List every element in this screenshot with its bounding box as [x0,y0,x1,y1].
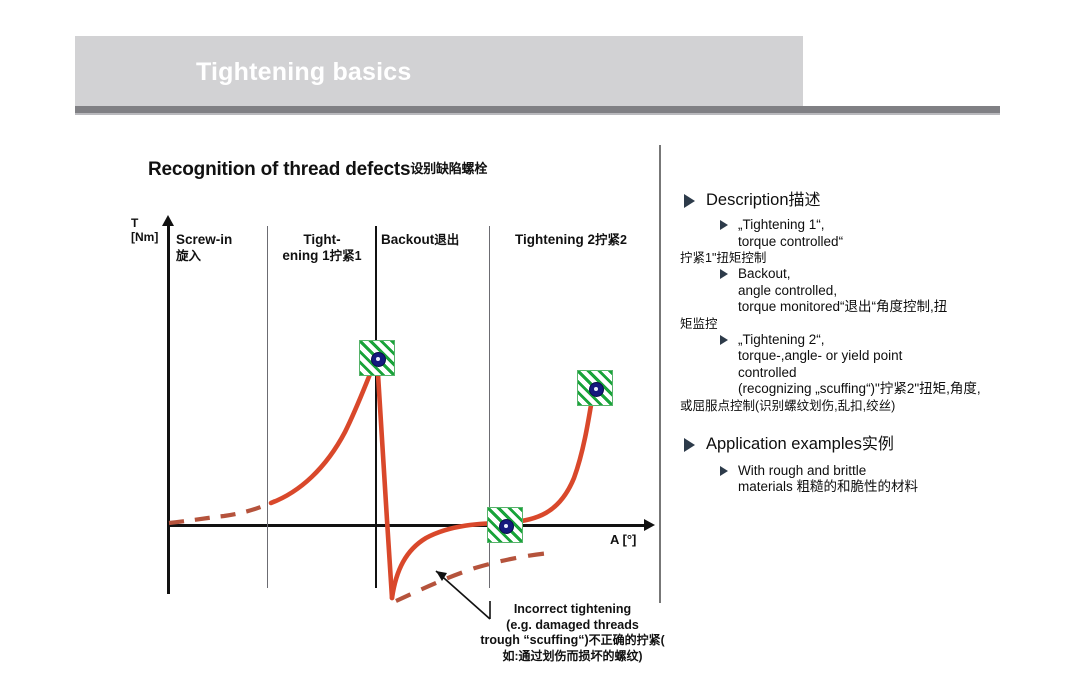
bullet-application-examples-en: Application examples [706,435,862,453]
bullet-tightening-1-cn: 拧紧1"扭矩控制 [680,250,1025,266]
bullet-rough-brittle-materials[interactable]: With rough and brittle materials 粗糙的和脆性的… [680,463,1025,496]
bullet-backout[interactable]: Backout, angle controlled, torque monito… [680,266,1025,316]
marker-dot-icon [371,352,386,367]
bullet-tightening-2-line-2: torque-,angle- or yield point [738,348,1025,365]
curve-svg [140,220,670,600]
bullet-tightening-2[interactable]: „Tightening 2“, torque-,angle- or yield … [680,332,1025,398]
header-rule-shadow [75,113,1000,115]
bullet-backout-line-3: torque monitored“退出“角度控制,扭 [738,299,1025,316]
bullet-tightening-2-line-1: „Tightening 2“, [738,332,1025,349]
header-band [75,36,803,106]
chart-panel: Recognition of thread defects设别缺陷螺栓 T [N… [140,140,670,610]
triangle-bullet-icon [684,194,695,208]
curve-incorrect-dashed [396,553,550,601]
bullet-application-examples[interactable]: Application examples实例 [680,434,1025,455]
panel-separator [659,145,661,603]
page-title: Tightening basics [196,58,411,87]
header-rule [75,106,1000,113]
annotation-line-4: 如:通过划伤而损坏的螺纹) [470,649,675,665]
bullet-description[interactable]: Description描述 [680,190,1025,211]
bullet-tightening-2-line-4: (recognizing „scuffing“)"拧紧2"扭矩,角度, [738,381,1025,398]
plot-area: T [Nm] A [°] Screw-in 旋入 Tight- ening 1拧… [140,220,670,600]
bullet-backout-line-2: angle controlled, [738,283,1025,300]
annotation-incorrect-tightening: Incorrect tightening (e.g. damaged threa… [470,602,675,664]
bullet-rough-brittle-line-1: With rough and brittle [738,463,1025,480]
triangle-bullet-icon [720,269,728,279]
curve-tightening-2-rise [500,387,594,523]
bullet-tightening-1[interactable]: „Tightening 1“, torque controlled“ [680,217,1025,250]
curve-screw-in-dashed [169,501,275,523]
annotation-line-2: (e.g. damaged threads [470,618,675,634]
annotation-line-3: trough “scuffing“)不正确的拧紧( [470,633,675,649]
curve-tightening-1-rise [271,360,376,503]
chart-title-en: Recognition of thread defects [148,159,410,180]
annotation-line-3-en: trough “scuffing“) [480,633,588,647]
annotation-line-3-cn: 不正确的拧紧( [589,633,665,647]
marker-tightening-1-peak[interactable] [359,340,395,376]
annotation-line-1: Incorrect tightening [470,602,675,618]
bullet-rough-brittle-line-2: materials 粗糙的和脆性的材料 [738,479,1025,496]
marker-dot-icon [589,382,604,397]
marker-dot-icon [499,519,514,534]
triangle-bullet-icon [684,438,695,452]
chart-title-cn: 设别缺陷螺栓 [410,161,487,176]
bullet-tightening-1-line-2: torque controlled“ [738,234,1025,251]
bullet-tightening-1-line-1: „Tightening 1“, [738,217,1025,234]
bullet-description-en: Description [706,191,789,209]
bullet-backout-line-1: Backout, [738,266,1025,283]
bullet-tightening-2-line-3: controlled [738,365,1025,382]
triangle-bullet-icon [720,220,728,230]
bullet-application-examples-cn: 实例 [862,436,894,453]
bullet-backout-cn: 矩监控 [680,316,1025,332]
marker-backout-end[interactable] [487,507,523,543]
slide-root: Tightening basics Recognition of thread … [0,0,1080,683]
marker-tightening-2-final[interactable] [577,370,613,406]
bullet-tightening-2-cn: 或屈服点控制(识别螺纹划伤,乱扣,绞丝) [680,398,1025,414]
triangle-bullet-icon [720,335,728,345]
triangle-bullet-icon [720,466,728,476]
right-panel: Description描述 „Tightening 1“, torque con… [680,190,1025,496]
curve-backout-drop [377,358,392,598]
bullet-description-cn: 描述 [789,192,821,209]
chart-title: Recognition of thread defects设别缺陷螺栓 [148,158,487,181]
